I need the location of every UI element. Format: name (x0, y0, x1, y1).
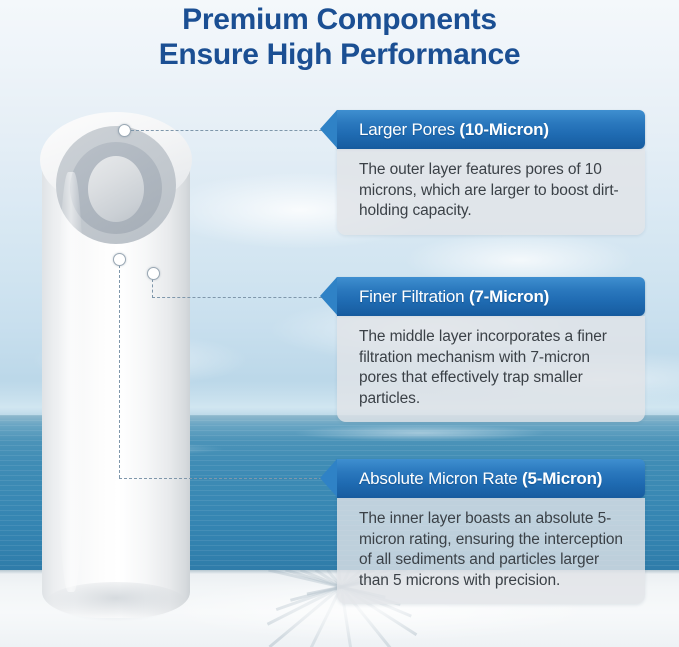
callout-arrow-icon (320, 277, 337, 315)
infographic-canvas: Premium Components Ensure High Performan… (0, 0, 679, 647)
callout-absolute-micron-rate[interactable]: Absolute Micron Rate (5-Micron) The inne… (337, 459, 645, 604)
callout-heading-emphasis: (7-Micron) (469, 287, 549, 306)
callout-finer-filtration[interactable]: Finer Filtration (7-Micron) The middle l… (337, 277, 645, 422)
page-title-line-2: Ensure High Performance (0, 37, 679, 72)
callout-heading-prefix: Absolute Micron Rate (359, 469, 522, 488)
connector-line-middle-layer-horizontal (152, 297, 337, 298)
callout-arrow-icon (320, 110, 337, 148)
marker-outer-layer (118, 124, 131, 137)
callout-larger-pores-text: The outer layer features pores of 10 mic… (359, 160, 629, 222)
callout-heading-emphasis: (10-Micron) (459, 120, 548, 139)
connector-line-inner-layer-vertical (119, 265, 120, 478)
callout-finer-filtration-header[interactable]: Finer Filtration (7-Micron) (337, 277, 645, 316)
callout-larger-pores-body: The outer layer features pores of 10 mic… (337, 149, 645, 235)
callout-finer-filtration-body: The middle layer incorporates a finer fi… (337, 316, 645, 422)
callout-larger-pores-header[interactable]: Larger Pores (10-Micron) (337, 110, 645, 149)
connector-line-middle-layer-vertical (152, 279, 153, 298)
callout-heading-prefix: Larger Pores (359, 120, 459, 139)
cartridge-highlight (58, 172, 84, 592)
marker-inner-layer (113, 253, 126, 266)
page-title-line-1: Premium Components (0, 2, 679, 37)
connector-line-inner-layer-horizontal (119, 478, 337, 479)
callout-finer-filtration-heading: Finer Filtration (7-Micron) (337, 287, 549, 306)
callout-larger-pores-heading: Larger Pores (10-Micron) (337, 120, 549, 139)
filter-cartridge-image (40, 112, 192, 630)
marker-middle-layer (147, 267, 160, 280)
callout-larger-pores[interactable]: Larger Pores (10-Micron) The outer layer… (337, 110, 645, 235)
callout-absolute-micron-rate-heading: Absolute Micron Rate (5-Micron) (337, 469, 602, 488)
callout-heading-prefix: Finer Filtration (359, 287, 469, 306)
callout-heading-emphasis: (5-Micron) (522, 469, 602, 488)
callout-absolute-micron-rate-text: The inner layer boasts an absolute 5-mic… (359, 509, 629, 591)
connector-line-outer-layer (131, 130, 337, 131)
callout-finer-filtration-text: The middle layer incorporates a finer fi… (359, 327, 629, 409)
callout-absolute-micron-rate-body: The inner layer boasts an absolute 5-mic… (337, 498, 645, 604)
cartridge-inner-core (88, 156, 144, 222)
callout-arrow-icon (320, 459, 337, 497)
callout-absolute-micron-rate-header[interactable]: Absolute Micron Rate (5-Micron) (337, 459, 645, 498)
page-title: Premium Components Ensure High Performan… (0, 2, 679, 72)
